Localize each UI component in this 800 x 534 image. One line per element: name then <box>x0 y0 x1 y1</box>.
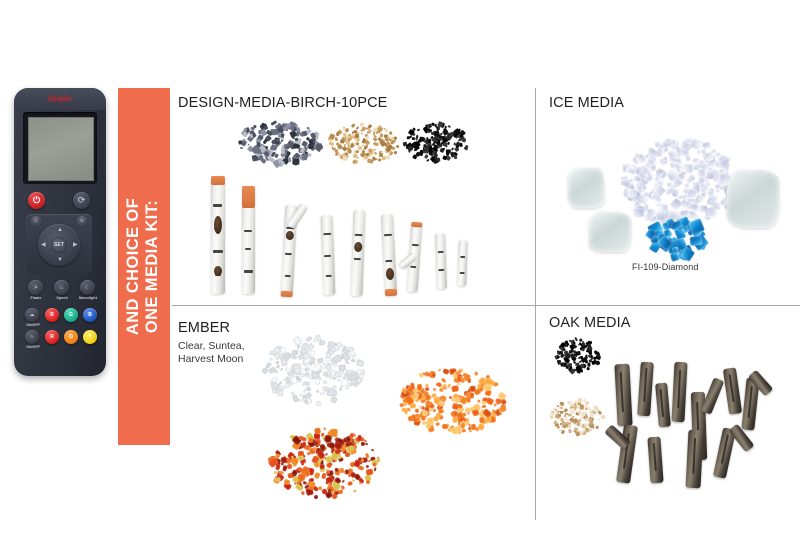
color-button-red-top[interactable]: R <box>45 308 59 322</box>
birch-knot <box>214 266 222 276</box>
color-button-row-bottom: ♨ ON/OFF R O Y <box>23 330 99 347</box>
oak-log <box>637 362 654 417</box>
clear-ember-pile <box>264 338 362 404</box>
moonlight-label: Moonlight <box>75 296 101 300</box>
color-button-green[interactable]: G <box>64 308 78 322</box>
tan-granule-pile <box>328 125 400 163</box>
oak-log <box>614 364 632 427</box>
birch-knot <box>214 216 222 234</box>
dpad[interactable]: ▲ ▼ ◀ ▶ SET <box>38 224 80 266</box>
birch-log <box>242 186 255 294</box>
glass-chunk <box>727 170 779 228</box>
fireplace-remote-control: Dimplex ⏻ ⟳ ⏱ ⚙ ▲ ▼ ◀ ▶ SET <box>14 88 106 376</box>
dpad-up-icon[interactable]: ▲ <box>57 227 63 233</box>
dpad-down-icon[interactable]: ▼ <box>57 257 63 263</box>
birch-cut-end <box>385 289 397 297</box>
panel-subtitle-ember-line1: Clear, Suntea, <box>178 340 245 353</box>
panel-subtitle-ember-line2: Harvest Moon <box>178 353 243 366</box>
oak-log <box>671 362 687 423</box>
color-button-yellow[interactable]: Y <box>83 330 97 344</box>
birch-log <box>321 215 336 295</box>
banner-line-1: AND CHOICE OF <box>125 198 143 335</box>
black-granule-pile <box>404 124 468 162</box>
oak-bark <box>647 437 663 484</box>
remote-lcd-screen <box>28 117 94 181</box>
color-button-red-bottom[interactable]: R <box>45 330 59 344</box>
onoff-button-2[interactable]: ♨ <box>25 330 39 344</box>
power-button[interactable]: ⏻ <box>28 192 45 209</box>
glass-chunk <box>589 212 631 252</box>
oak-bark <box>685 430 703 489</box>
glass-chunk <box>568 168 604 208</box>
birch-bark <box>321 215 336 295</box>
power-icon: ⏻ <box>28 192 45 209</box>
sand-granule-pile <box>551 400 603 436</box>
banner-text: AND CHOICE OF ONE MEDIA KIT: <box>125 198 164 335</box>
oak-bark <box>655 383 671 428</box>
birch-cut-end <box>411 222 422 228</box>
clock-icon[interactable]: ⏱ <box>31 216 41 226</box>
birch-cut-end <box>242 186 255 208</box>
grey-granule-pile <box>236 122 322 164</box>
birch-log <box>381 214 397 297</box>
speed-button[interactable]: ♨ <box>54 280 69 295</box>
moonlight-button[interactable]: ☾ <box>80 280 95 295</box>
birch-log <box>435 233 447 289</box>
birch-bark <box>457 240 468 286</box>
blue-crystals <box>648 222 706 258</box>
settings-icon[interactable]: ⚙ <box>77 216 87 226</box>
speed-label: Speed <box>49 296 75 300</box>
birch-log <box>211 176 225 294</box>
oak-bark <box>614 364 632 427</box>
birch-bark <box>211 176 225 294</box>
clear-diamond-crystals <box>624 140 734 226</box>
function-button-row: ☭ Flame ♨ Speed ☾ Moonlight <box>28 280 96 302</box>
panel-title-ice: ICE MEDIA <box>549 95 624 111</box>
birch-bark <box>435 233 447 289</box>
flame-button[interactable]: ☭ <box>28 280 43 295</box>
panel-title-birch: DESIGN-MEDIA-BIRCH-10PCE <box>178 95 387 111</box>
oak-log <box>655 383 671 428</box>
birch-bark <box>351 210 366 296</box>
onoff-button-1[interactable]: ☁ <box>25 308 39 322</box>
suntea-ember-pile <box>401 368 505 434</box>
panel-title-oak: OAK MEDIA <box>549 315 630 331</box>
navigation-pad: ⏱ ⚙ ▲ ▼ ◀ ▶ SET <box>26 214 92 274</box>
caption-ice: FI-109-Diamond <box>632 262 698 272</box>
dpad-right-icon[interactable]: ▶ <box>73 242 78 248</box>
harvest-moon-ember-pile <box>270 430 380 498</box>
divider-vertical <box>535 88 536 520</box>
birch-cut-end <box>281 291 293 298</box>
timer-button[interactable]: ⟳ <box>73 192 90 209</box>
remote-keypad: ⏻ ⟳ ⏱ ⚙ ▲ ▼ ◀ ▶ SET ☭ Flame ♨ Sp <box>20 188 100 366</box>
birch-log <box>351 210 366 296</box>
media-kit-layout: Dimplex ⏻ ⟳ ⏱ ⚙ ▲ ▼ ◀ ▶ SET <box>0 0 800 534</box>
oak-bark <box>671 362 687 423</box>
oak-bark <box>637 362 654 417</box>
flame-label: Flame <box>23 296 49 300</box>
onoff-label-2: ON/OFF <box>23 345 43 349</box>
media-kit-banner: AND CHOICE OF ONE MEDIA KIT: <box>118 88 170 445</box>
color-button-blue[interactable]: B <box>83 308 97 322</box>
oak-log <box>685 430 703 489</box>
oak-log <box>723 367 742 414</box>
timer-icon: ⟳ <box>73 192 90 209</box>
set-button[interactable]: SET <box>51 237 67 253</box>
banner-line-2: ONE MEDIA KIT: <box>144 198 163 335</box>
panel-title-ember: EMBER <box>178 320 230 336</box>
birch-cut-end <box>211 176 225 185</box>
divider-horizontal <box>172 305 800 306</box>
birch-bark <box>381 214 397 297</box>
birch-log <box>457 240 468 286</box>
brand-logo: Dimplex <box>45 94 75 103</box>
oak-log <box>647 437 663 484</box>
black-granule-pile <box>556 340 600 372</box>
remote-screen-bezel <box>23 112 97 184</box>
color-button-row-top: ☁ ON/OFF R G B <box>23 308 99 325</box>
oak-bark <box>723 367 742 414</box>
onoff-label-1: ON/OFF <box>23 323 43 327</box>
dpad-left-icon[interactable]: ◀ <box>41 242 46 248</box>
color-button-orange[interactable]: O <box>64 330 78 344</box>
